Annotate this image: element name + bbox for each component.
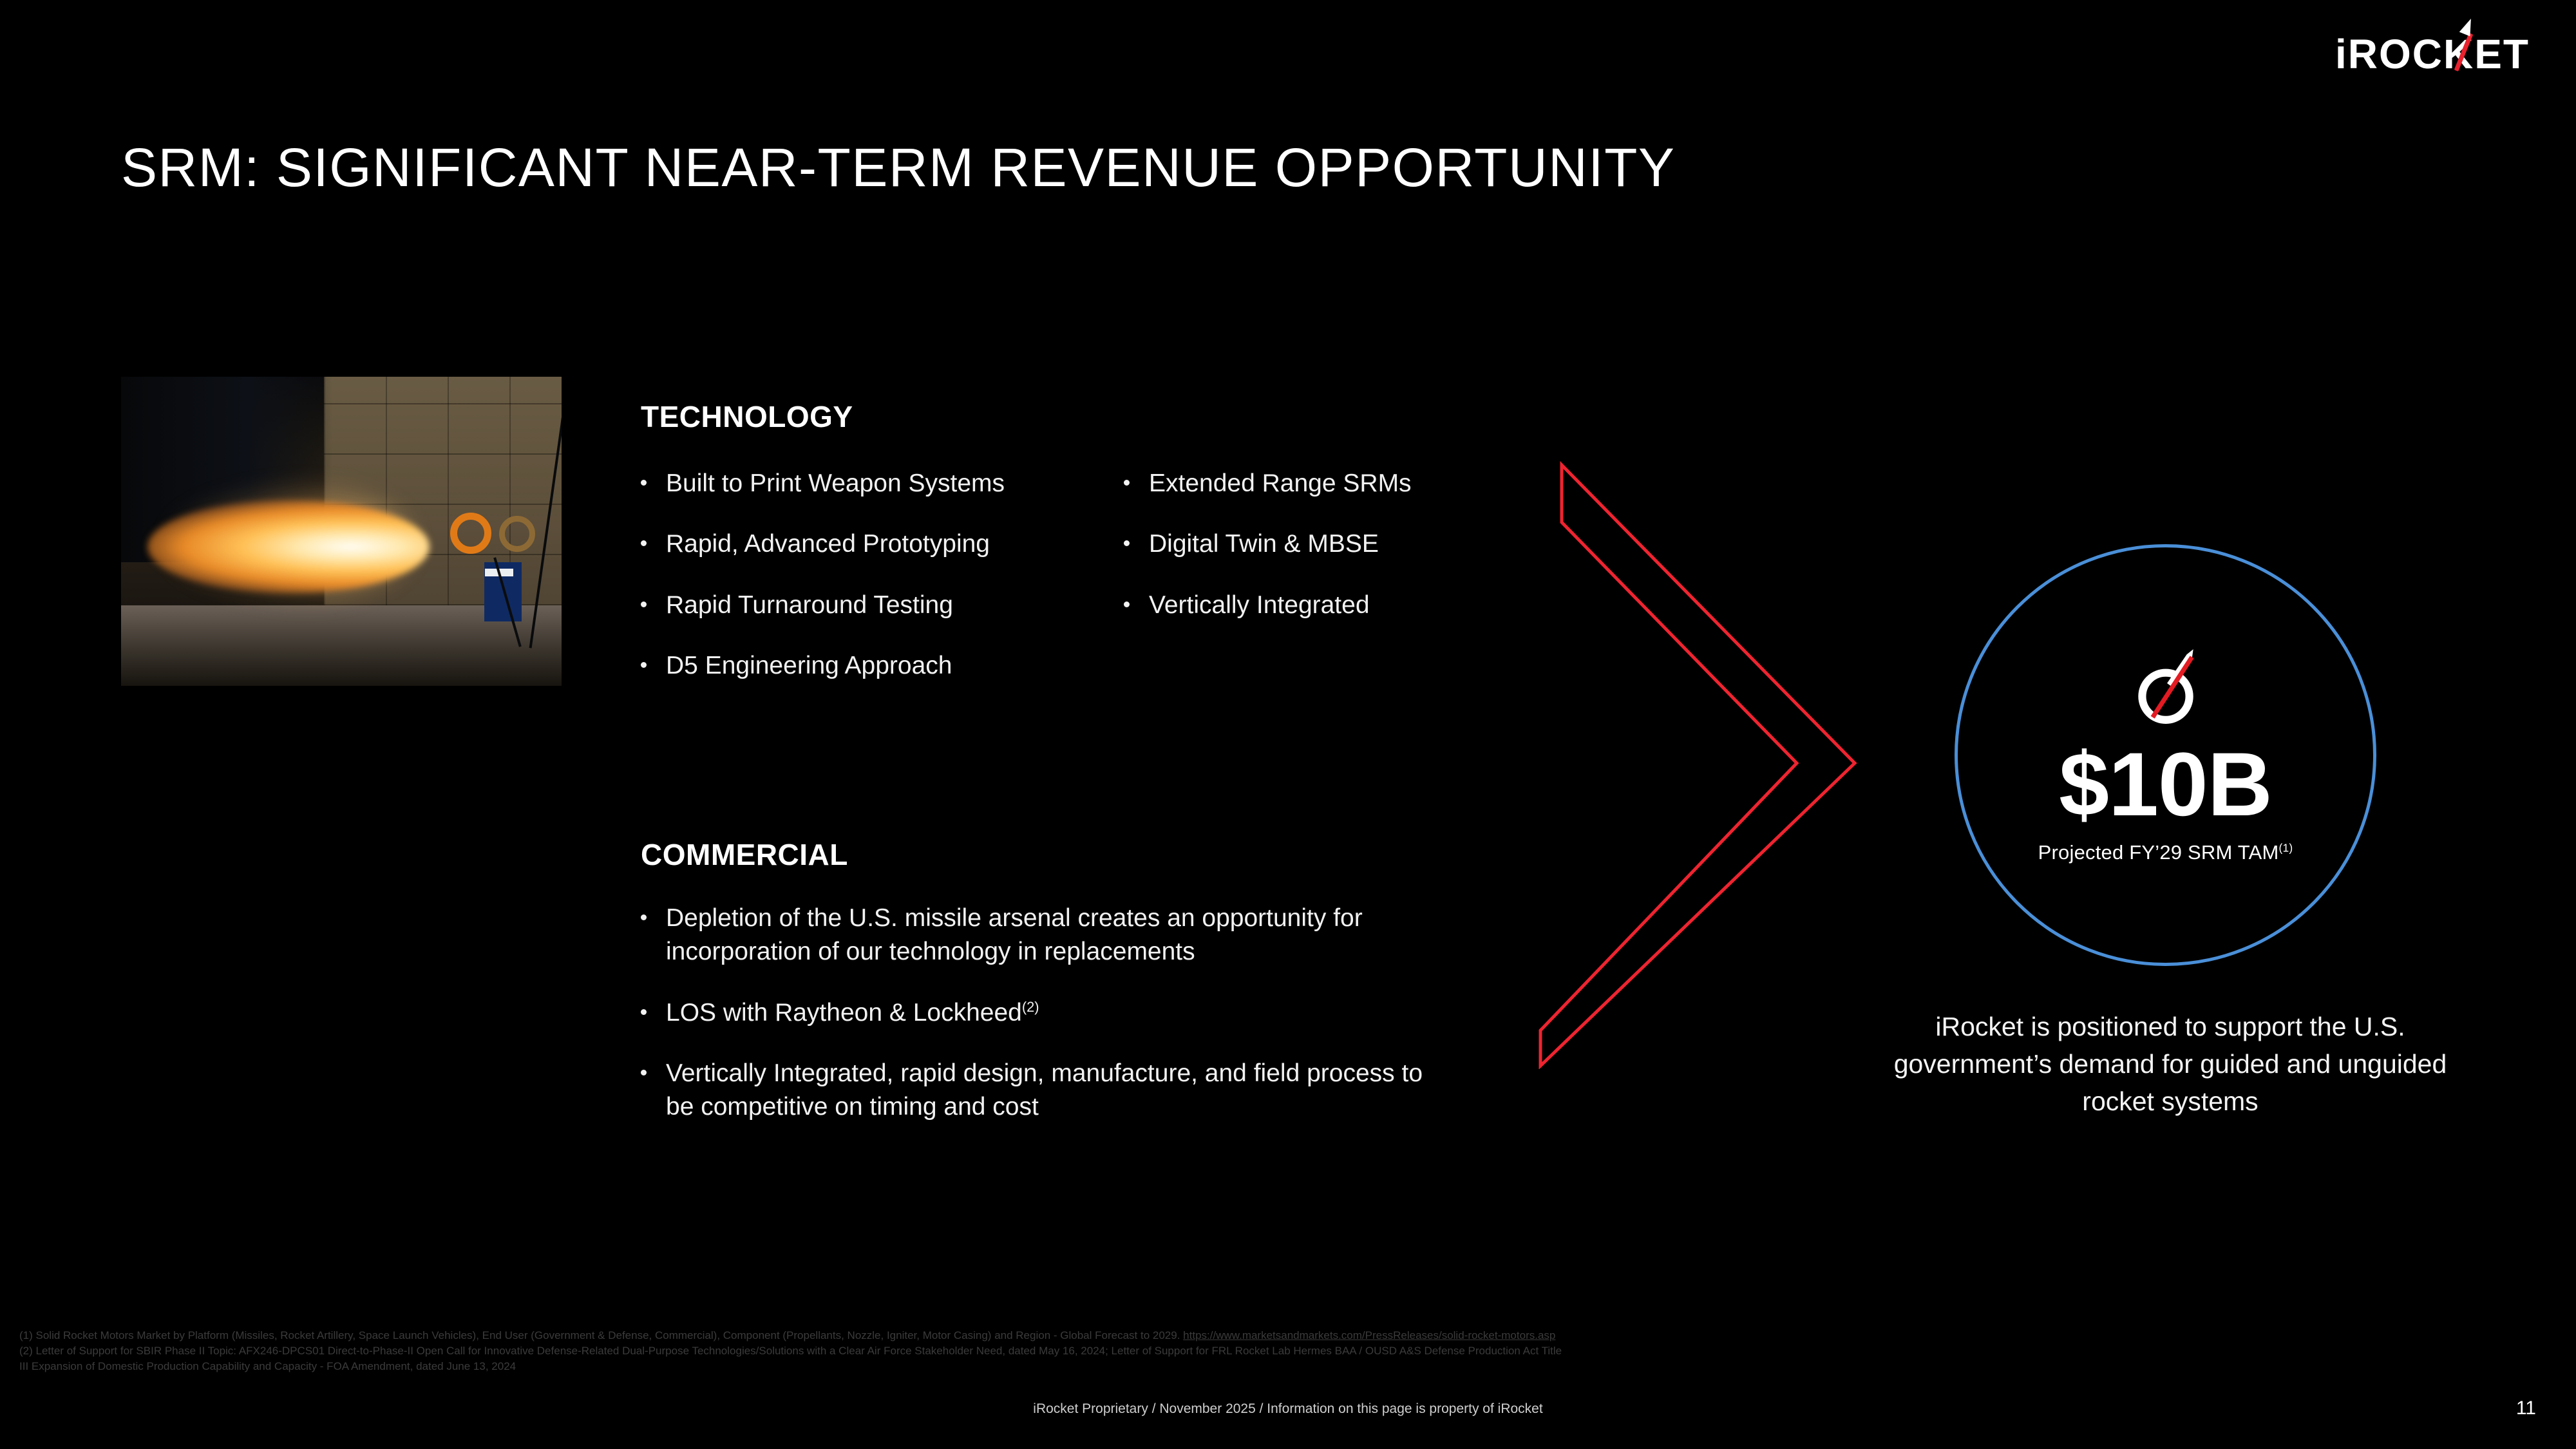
- list-item-label: Rapid, Advanced Prototyping: [666, 527, 990, 561]
- bullet-dot-icon: [1124, 480, 1130, 486]
- chevron-icon: [1494, 438, 1868, 1069]
- list-item: Rapid Turnaround Testing: [641, 589, 1130, 622]
- list-item-label: Depletion of the U.S. missile arsenal cr…: [666, 904, 1363, 965]
- list-item: LOS with Raytheon & Lockheed(2): [641, 996, 1426, 1030]
- photo-nozzle-ring: [450, 513, 491, 554]
- tam-caption-text: Projected FY’29 SRM TAM: [2038, 841, 2279, 864]
- page-title: SRM: SIGNIFICANT NEAR-TERM REVENUE OPPOR…: [121, 137, 1675, 199]
- rocket-logo-icon: [2126, 647, 2205, 725]
- photo-exhaust-plume: [147, 500, 430, 593]
- rocket-test-photo: [121, 377, 562, 686]
- tam-caption: Projected FY’29 SRM TAM(1): [2038, 841, 2293, 864]
- bullet-dot-icon: [641, 914, 647, 920]
- list-item: Built to Print Weapon Systems: [641, 467, 1130, 500]
- tam-value: $10B: [2059, 739, 2272, 829]
- list-item-label: LOS with Raytheon & Lockheed: [666, 999, 1022, 1027]
- list-item-label: Vertically Integrated: [1149, 589, 1370, 622]
- technology-bullets-column-b: Extended Range SRMs Digital Twin & MBSE …: [1124, 467, 1523, 649]
- commercial-bullets: Depletion of the U.S. missile arsenal cr…: [641, 902, 1426, 1151]
- list-item-label: Built to Print Weapon Systems: [666, 467, 1005, 500]
- footnote-line-1: (1) Solid Rocket Motors Market by Platfo…: [19, 1329, 1180, 1341]
- list-item: Rapid, Advanced Prototyping: [641, 527, 1130, 561]
- list-item-label: Vertically Integrated, rapid design, man…: [666, 1059, 1423, 1121]
- list-item-label: Digital Twin & MBSE: [1149, 527, 1379, 561]
- bullet-dot-icon: [641, 480, 647, 486]
- footer-proprietary-note: iRocket Proprietary / November 2025 / In…: [0, 1401, 2576, 1417]
- list-item: Digital Twin & MBSE: [1124, 527, 1523, 561]
- brand-logo-text: iROCKET: [2335, 33, 2530, 75]
- list-item-label: Extended Range SRMs: [1149, 467, 1412, 500]
- technology-heading: TECHNOLOGY: [641, 399, 853, 434]
- brand-logo: iROCKET: [2335, 33, 2530, 75]
- bullet-dot-icon: [641, 662, 647, 668]
- bullet-dot-icon: [1124, 540, 1130, 546]
- technology-bullets-column-a: Built to Print Weapon Systems Rapid, Adv…: [641, 467, 1130, 710]
- bullet-dot-icon: [641, 601, 647, 607]
- tam-supporting-text: iRocket is positioned to support the U.S…: [1887, 1008, 2454, 1121]
- list-item: Vertically Integrated, rapid design, man…: [641, 1057, 1426, 1124]
- list-item: Extended Range SRMs: [1124, 467, 1523, 500]
- list-item: D5 Engineering Approach: [641, 649, 1130, 683]
- commercial-heading: COMMERCIAL: [641, 837, 848, 872]
- bullet-dot-icon: [641, 540, 647, 546]
- bullet-dot-icon: [1124, 601, 1130, 607]
- footnote-source-link[interactable]: https://www.marketsandmarkets.com/PressR…: [1183, 1329, 1555, 1341]
- list-item: Depletion of the U.S. missile arsenal cr…: [641, 902, 1426, 969]
- bullet-dot-icon: [641, 1009, 647, 1015]
- list-item: Vertically Integrated: [1124, 589, 1523, 622]
- footnote-line-2: (2) Letter of Support for SBIR Phase II …: [19, 1345, 880, 1357]
- list-item-label: D5 Engineering Approach: [666, 649, 952, 683]
- footnote-marker: (2): [1022, 999, 1039, 1015]
- footnote-marker: (1): [2279, 841, 2293, 854]
- page-number: 11: [2516, 1397, 2536, 1419]
- tam-stat-circle: $10B Projected FY’29 SRM TAM(1): [1955, 544, 2376, 966]
- list-item-label: Rapid Turnaround Testing: [666, 589, 953, 622]
- footnotes-block: (1) Solid Rocket Motors Market by Platfo…: [19, 1328, 1565, 1374]
- photo-nozzle-ring-secondary: [499, 516, 535, 552]
- red-chevron-arrow: [1494, 438, 1868, 1069]
- bullet-dot-icon: [641, 1070, 647, 1075]
